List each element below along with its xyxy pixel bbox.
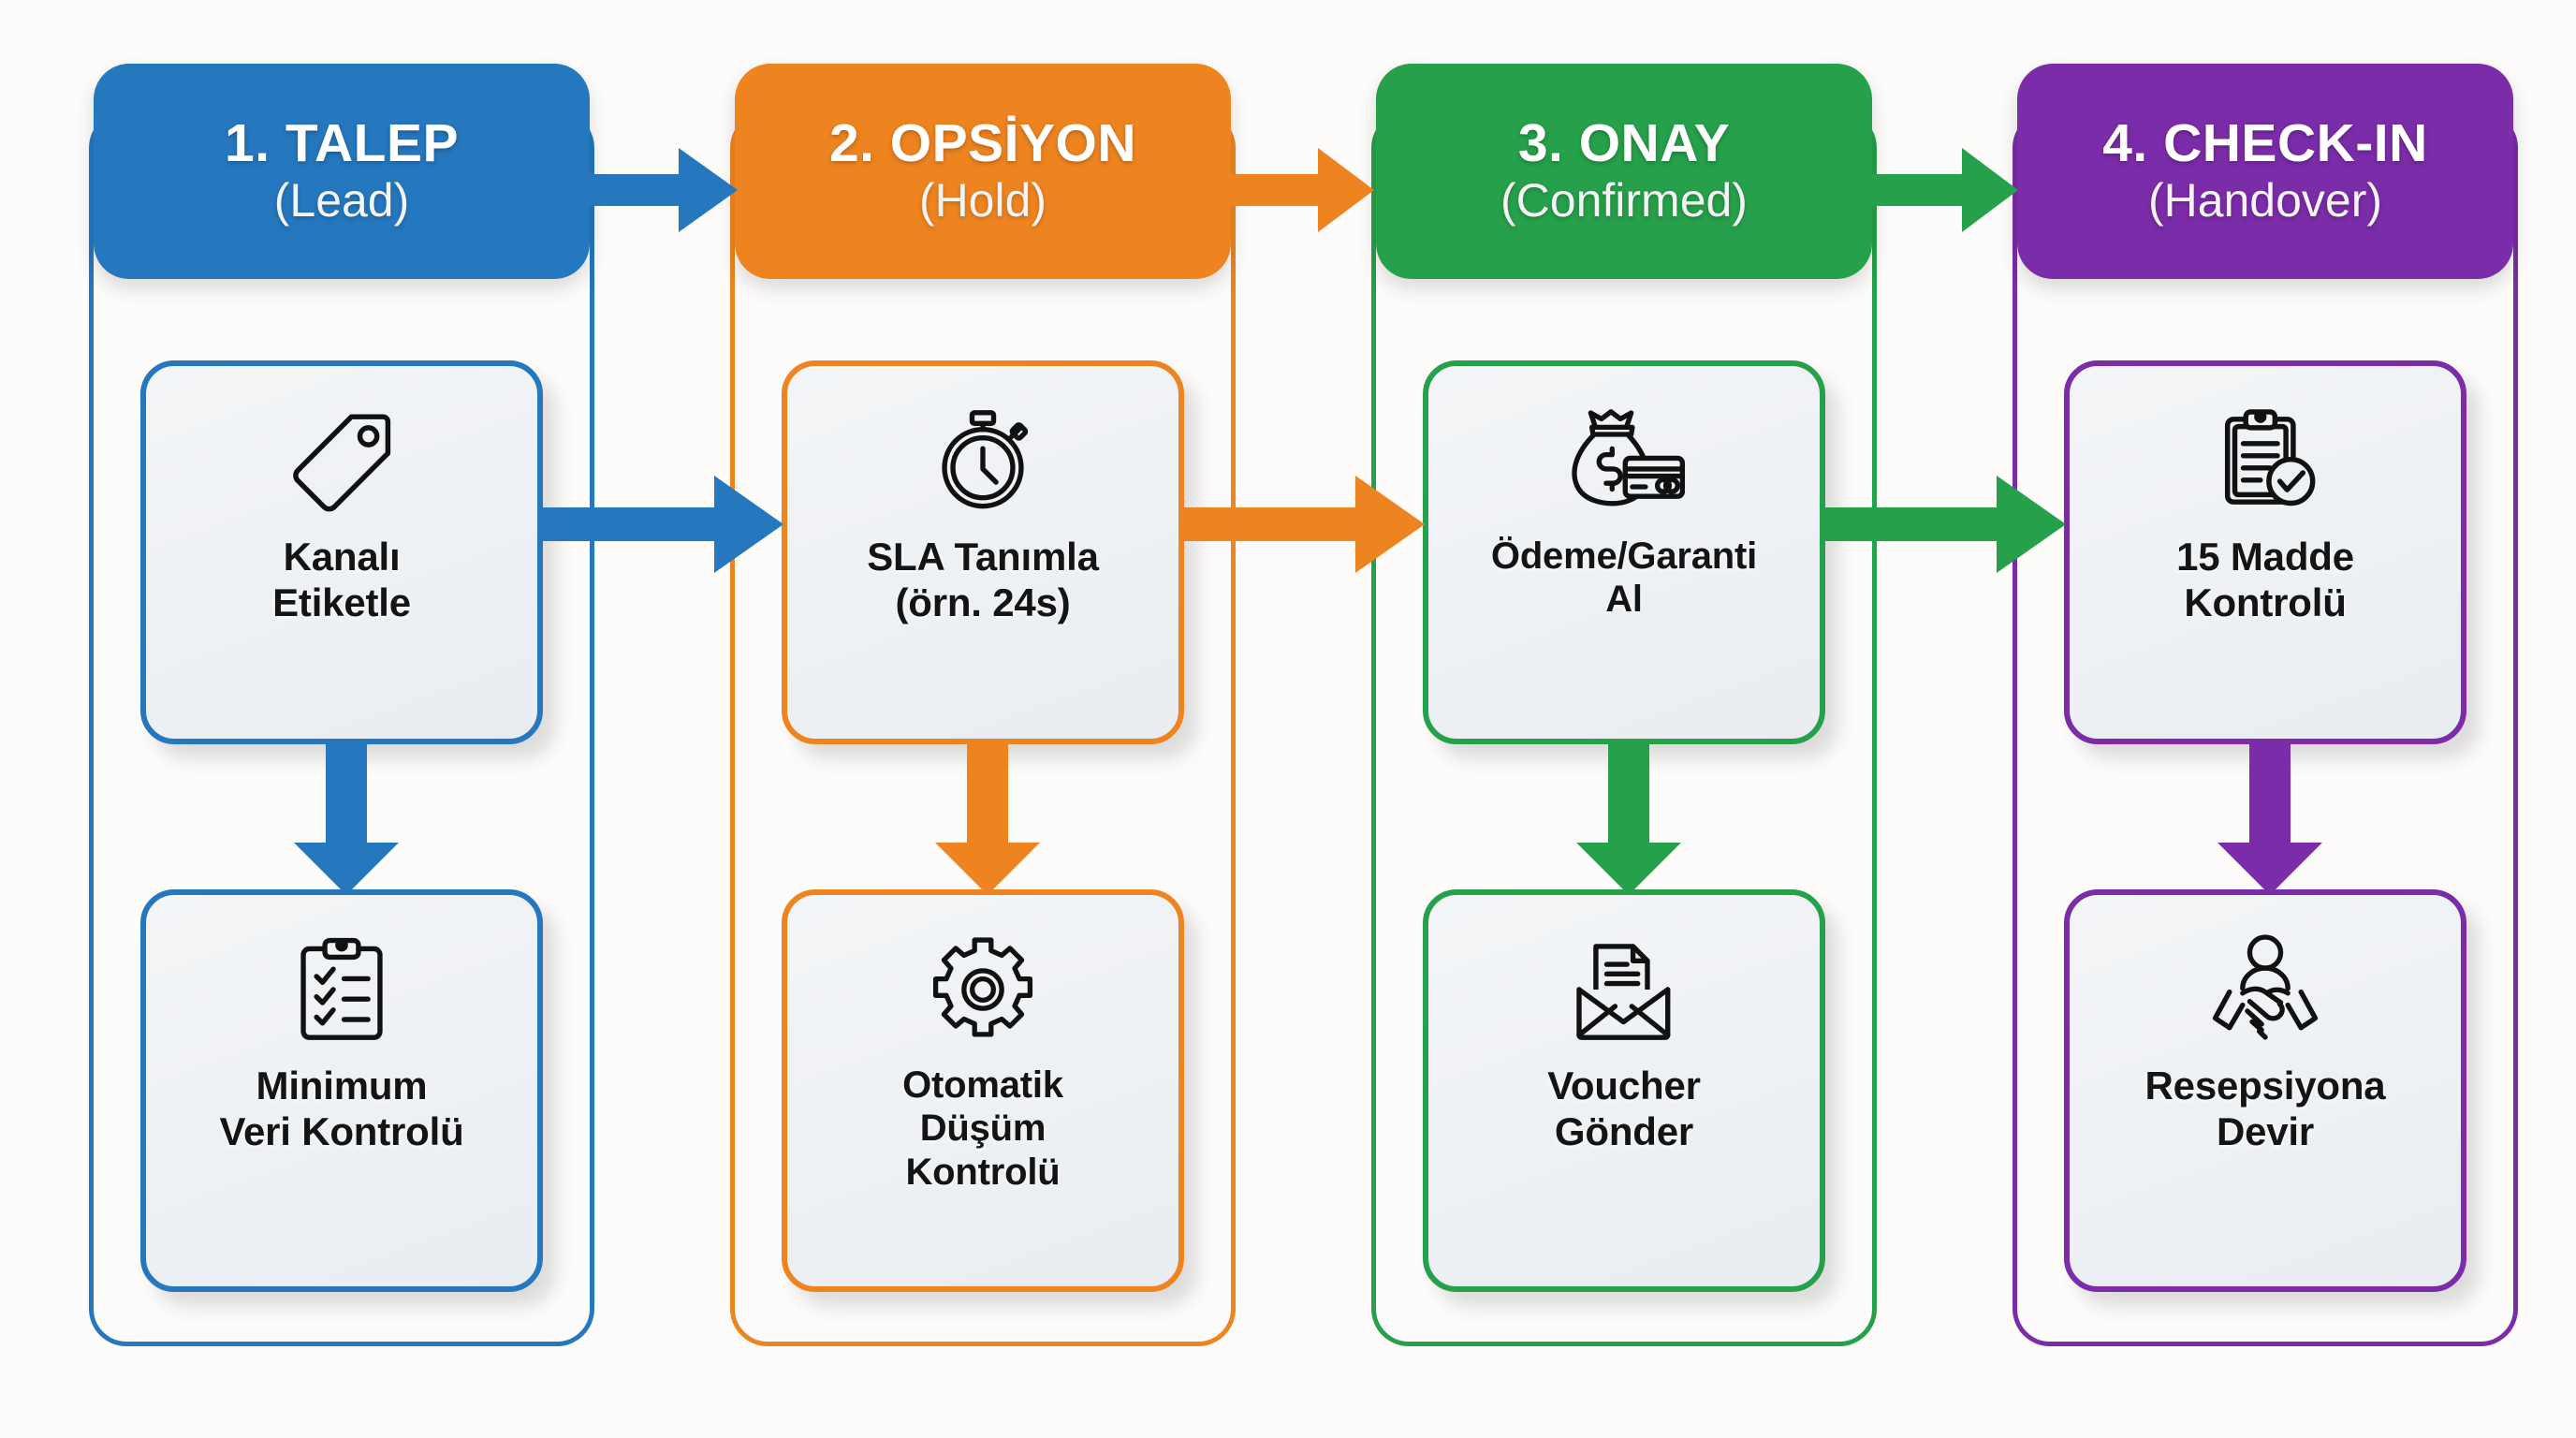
card-label: VoucherGönder: [1534, 1064, 1714, 1154]
card-otomatik-dusum-kontrolu[interactable]: OtomatikDüşümKontrolü: [782, 889, 1184, 1292]
card-label: MinimumVeri Kontrolü: [206, 1064, 476, 1154]
card-15-madde-kontrolu[interactable]: 15 MaddeKontrolü: [2064, 360, 2466, 744]
stage-header-talep[interactable]: 1. TALEP (Lead): [94, 64, 590, 279]
card-label: ResepsiyonaDevir: [2132, 1064, 2399, 1154]
stage-header-opsiyon[interactable]: 2. OPSİYON (Hold): [735, 64, 1231, 279]
down-arrow-onay: [1573, 740, 1685, 903]
card-minimum-veri-kontrolu[interactable]: MinimumVeri Kontrolü: [140, 889, 543, 1292]
stage-header-title: 4. CHECK-IN: [2102, 116, 2428, 171]
card-arrow-talep-to-opsiyon: [538, 468, 786, 585]
header-arrow-onay-to-checkin: [1870, 139, 2020, 246]
stage-header-title: 1. TALEP: [225, 116, 459, 171]
stage-header-subtitle: (Hold): [919, 174, 1046, 227]
stage-header-onay[interactable]: 3. ONAY (Confirmed): [1376, 64, 1872, 279]
handshake-icon: [2200, 919, 2331, 1060]
flow-diagram-canvas: 1. TALEP (Lead) KanalıEtiketle MinimumVe…: [0, 0, 2576, 1438]
down-arrow-checkin: [2214, 740, 2326, 903]
header-arrow-opsiyon-to-onay: [1226, 139, 1376, 246]
card-voucher-gonder[interactable]: VoucherGönder: [1423, 889, 1825, 1292]
stage-header-subtitle: (Lead): [274, 174, 410, 227]
checklist-icon: [282, 919, 402, 1060]
down-arrow-opsiyon: [931, 740, 1044, 903]
card-label: OtomatikDüşümKontrolü: [889, 1064, 1076, 1194]
stopwatch-icon: [923, 390, 1043, 531]
envelope-doc-icon: [1560, 919, 1688, 1060]
stage-header-title: 3. ONAY: [1518, 116, 1730, 171]
money-card-icon: [1559, 390, 1690, 531]
card-kanali-etiketle[interactable]: KanalıEtiketle: [140, 360, 543, 744]
card-sla-tanimla[interactable]: SLA Tanımla(örn. 24s): [782, 360, 1184, 744]
stage-header-title: 2. OPSİYON: [829, 116, 1136, 171]
card-label: 15 MaddeKontrolü: [2163, 535, 2367, 625]
card-label: KanalıEtiketle: [259, 535, 424, 625]
card-arrow-opsiyon-to-onay: [1179, 468, 1427, 585]
down-arrow-talep: [290, 740, 402, 903]
stage-header-checkin[interactable]: 4. CHECK-IN (Handover): [2017, 64, 2513, 279]
card-odeme-garanti-al[interactable]: Ödeme/GarantiAl: [1423, 360, 1825, 744]
stage-header-subtitle: (Handover): [2148, 174, 2382, 227]
tag-icon: [281, 390, 402, 531]
header-arrow-talep-to-opsiyon: [580, 139, 739, 246]
card-label: SLA Tanımla(örn. 24s): [854, 535, 1112, 625]
stage-header-subtitle: (Confirmed): [1500, 174, 1748, 227]
card-arrow-onay-to-checkin: [1821, 468, 2069, 585]
card-resepsiyona-devir[interactable]: ResepsiyonaDevir: [2064, 889, 2466, 1292]
clipboard-check-icon: [2204, 390, 2326, 531]
gear-icon: [924, 919, 1042, 1060]
card-label: Ödeme/GarantiAl: [1478, 535, 1770, 622]
